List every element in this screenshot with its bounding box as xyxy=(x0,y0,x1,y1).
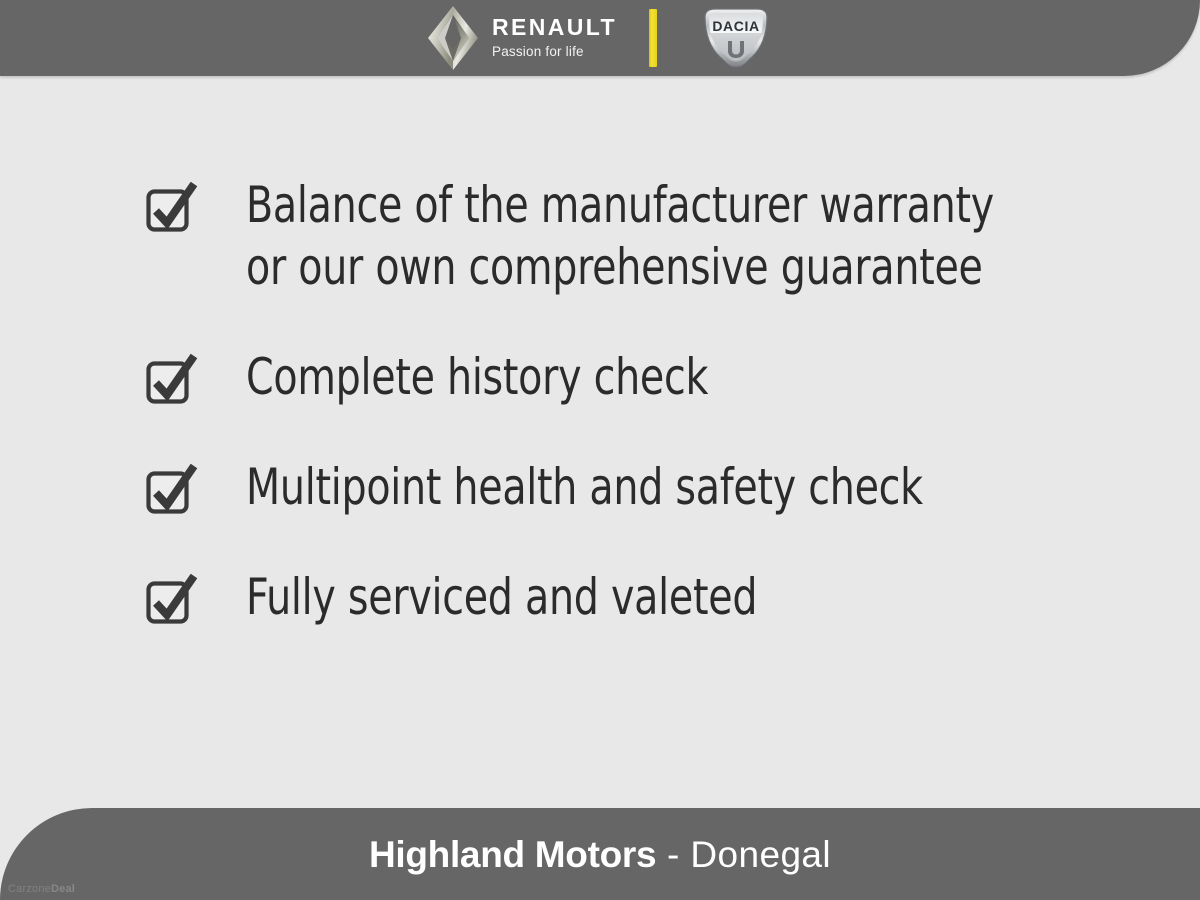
dacia-shield-logo: DACIA xyxy=(697,5,775,71)
list-item: Fully serviced and valeted xyxy=(0,566,1200,628)
dealer-footer-text: Highland Motors - Donegal xyxy=(369,836,831,873)
renault-brand-group: RENAULT Passion for life xyxy=(425,5,617,71)
dealer-name: Highland Motors xyxy=(369,834,656,875)
dacia-brand-name: DACIA xyxy=(712,18,759,34)
checkbox-checked-icon xyxy=(144,352,200,408)
checkbox-checked-icon xyxy=(144,572,200,628)
feature-text: Fully serviced and valeted xyxy=(246,566,757,628)
checkbox-checked-icon xyxy=(144,180,200,236)
brand-header-content: RENAULT Passion for life xyxy=(0,0,1200,76)
feature-content-area: Balance of the manufacturer warranty or … xyxy=(0,76,1200,808)
feature-text: Balance of the manufacturer warranty or … xyxy=(246,174,994,298)
feature-text: Multipoint health and safety check xyxy=(246,456,923,518)
watermark-prefix: Carzone xyxy=(8,883,51,895)
brand-header-bar: RENAULT Passion for life xyxy=(0,0,1200,76)
dealer-separator: - xyxy=(656,834,690,875)
renault-wordmark: RENAULT Passion for life xyxy=(492,16,617,61)
watermark: CarzoneDeal xyxy=(8,883,75,895)
dealer-location: Donegal xyxy=(690,834,831,875)
dealer-footer-bar: Highland Motors - Donegal xyxy=(0,808,1200,900)
renault-brand-name: RENAULT xyxy=(492,16,617,39)
watermark-suffix: Deal xyxy=(51,883,75,895)
slide-canvas: RENAULT Passion for life xyxy=(0,0,1200,900)
feature-text: Complete history check xyxy=(246,346,708,408)
list-item: Complete history check xyxy=(0,346,1200,408)
list-item: Multipoint health and safety check xyxy=(0,456,1200,518)
renault-tagline: Passion for life xyxy=(492,45,617,59)
list-item: Balance of the manufacturer warranty or … xyxy=(0,174,1200,298)
vertical-divider xyxy=(649,9,657,67)
renault-diamond-logo xyxy=(425,5,481,71)
checkbox-checked-icon xyxy=(144,462,200,518)
feature-list: Balance of the manufacturer warranty or … xyxy=(0,174,1200,628)
